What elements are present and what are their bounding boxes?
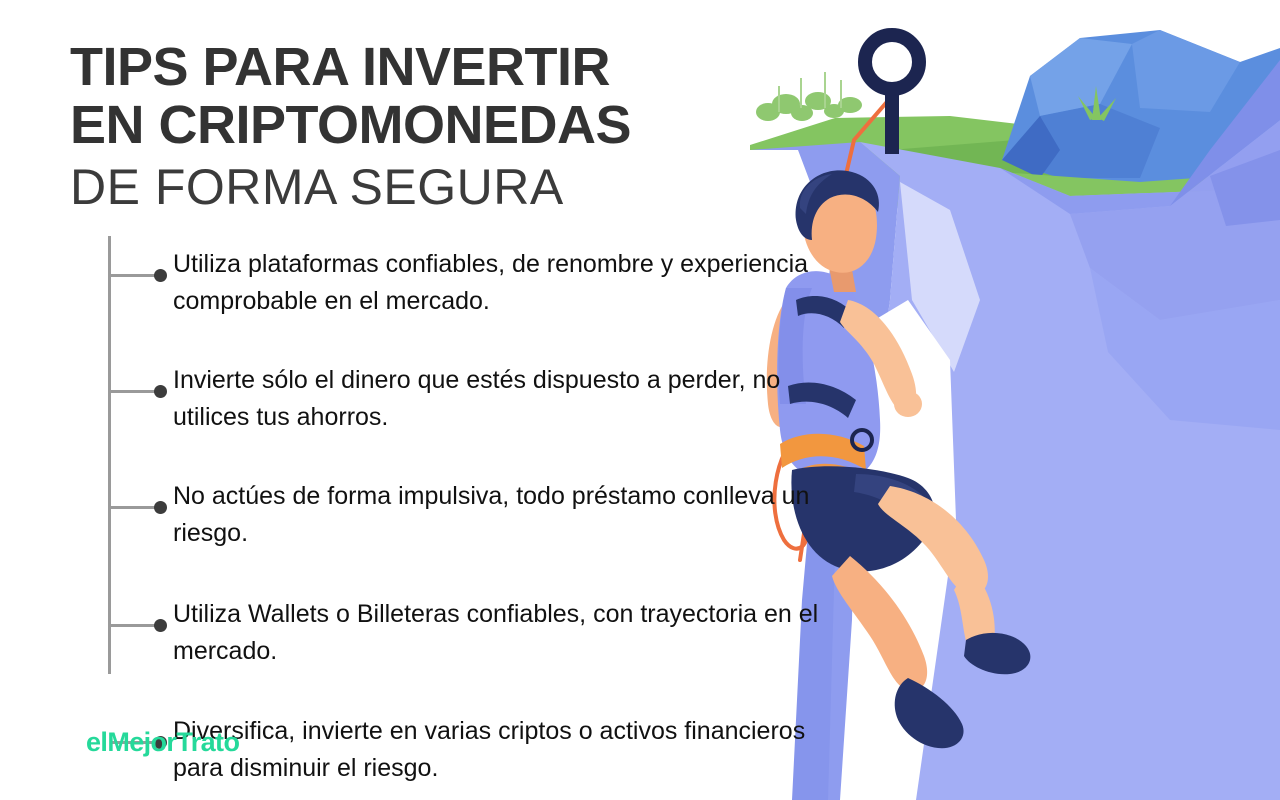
infographic-canvas: TIPS PARA INVERTIR EN CRIPTOMONEDAS DE F… [0,0,1280,800]
climber-rear-shoe [895,678,964,748]
list-item: No actúes de forma impulsiva, todo prést… [108,460,828,554]
list-item-text: Invierte sólo el dinero que estés dispue… [173,362,833,436]
connector-line [110,274,156,277]
boulder-grass-tuft [1078,86,1116,121]
climber-hair [796,170,879,240]
small-rock [1188,164,1260,198]
climber-front-shin [954,566,995,658]
bullet-dot [154,385,167,398]
page-title: TIPS PARA INVERTIR EN CRIPTOMONEDAS DE F… [70,38,770,215]
title-line-1: TIPS PARA INVERTIR [70,38,770,96]
grass-shadow [890,138,1280,182]
climber-front-shoe [964,633,1030,674]
list-item: Utiliza Wallets o Billeteras confiables,… [108,576,828,676]
title-line-2: EN CRIPTOMONEDAS [70,96,770,154]
logo-text: elMejorTrato [86,727,239,757]
leaf-group [912,228,1246,257]
list-item: Utiliza plataformas confiables, de renom… [108,236,828,322]
cliff-top-group [750,116,1280,196]
climber-right-hand [894,391,922,417]
list-item: Invierte sólo el dinero que estés dispue… [108,344,828,438]
bullet-dot [154,619,167,632]
grass-band-lower [880,172,1280,222]
bullet-dot [154,501,167,514]
list-item-text: Diversifica, invierte en varias criptos … [173,713,833,787]
climber-front-thigh [878,486,988,595]
bullet-dot [154,269,167,282]
climber-rear-thigh [832,556,927,691]
connector-line [110,390,156,393]
brand-logo[interactable]: elMejorTrato [86,727,239,758]
carabiner-icon [852,430,872,450]
climber-hair-highlight [800,174,832,214]
list-item-text: No actúes de forma impulsiva, todo prést… [173,478,833,552]
connector-line [110,624,156,627]
shrub-group [756,72,862,121]
list-item-text: Utiliza Wallets o Billeteras confiables,… [173,596,833,670]
anchor-ring-icon [865,35,919,154]
climber-right-arm [840,300,916,412]
tips-list: Utiliza plataformas confiables, de renom… [108,236,828,788]
climber-shorts-highlight [854,474,933,534]
list-item-text: Utiliza plataformas confiables, de renom… [173,246,833,320]
connector-line [110,506,156,509]
boulder [1002,30,1280,186]
grass-shelf [750,116,1280,196]
title-line-3: DE FORMA SEGURA [70,159,770,215]
